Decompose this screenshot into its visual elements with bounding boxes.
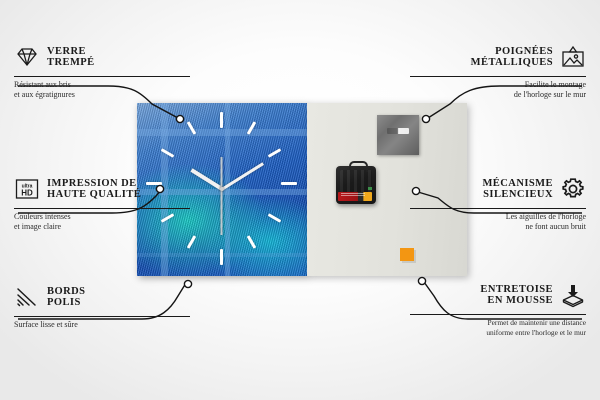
- svg-text:HD: HD: [21, 189, 33, 198]
- hanger-slot: [387, 128, 409, 134]
- foam-spacer-icon: [560, 282, 586, 308]
- feature-title: POIGNÉES MÉTALLIQUES: [471, 46, 553, 69]
- feature-subtitle: Facilite le montage de l'horloge sur le …: [410, 80, 586, 100]
- divider: [410, 208, 586, 209]
- ultra-hd-badge-icon: ultra HD: [14, 176, 40, 202]
- polished-edges-icon: [14, 284, 40, 310]
- divider: [410, 314, 586, 315]
- feature-entretoise-en-mousse: ENTRETOISE EN MOUSSE Permet de maintenir…: [410, 278, 586, 338]
- feature-title: VERRE TREMPÉ: [47, 46, 95, 69]
- feature-subtitle: Couleurs intenses et image claire: [14, 212, 190, 232]
- feature-subtitle: Permet de maintenir une distance uniform…: [410, 318, 586, 338]
- feature-title: IMPRESSION DE HAUTE QUALITÉ: [47, 178, 141, 201]
- feature-subtitle: Résistant aux bris et aux égratignures: [14, 80, 190, 100]
- divider: [14, 316, 190, 317]
- feature-bords-polis: BORDS POLIS Surface lisse et sûre: [14, 280, 190, 330]
- feature-title: MÉCANISME SILENCIEUX: [482, 178, 553, 201]
- diamond-icon: [14, 44, 40, 70]
- gear-icon: [560, 176, 586, 202]
- hour-marker: [220, 249, 223, 265]
- battery: [338, 192, 372, 201]
- feature-title: BORDS POLIS: [47, 286, 85, 309]
- metal-hanger-plate: [377, 115, 419, 155]
- foam-spacer: [400, 248, 414, 261]
- second-hand: [221, 157, 223, 235]
- infographic-canvas: VERRE TREMPÉ Résistant aux bris et aux é…: [0, 0, 600, 400]
- feature-title: ENTRETOISE EN MOUSSE: [480, 284, 553, 307]
- hour-marker: [220, 112, 223, 128]
- clock-pivot: [220, 187, 224, 191]
- clock-mechanism: [336, 166, 376, 204]
- picture-frame-hook-icon: [560, 44, 586, 70]
- feature-subtitle: Surface lisse et sûre: [14, 320, 190, 330]
- feature-verre-trempe: VERRE TREMPÉ Résistant aux bris et aux é…: [14, 40, 190, 100]
- divider: [14, 208, 190, 209]
- divider: [14, 76, 190, 77]
- hour-marker: [281, 182, 297, 185]
- feature-poignees-metalliques: POIGNÉES MÉTALLIQUES Facilite le montage…: [410, 40, 586, 100]
- battery-label: [341, 192, 365, 196]
- mechanism-indicator: [368, 187, 372, 190]
- divider: [410, 76, 586, 77]
- feature-subtitle: Les aiguilles de l'horloge ne font aucun…: [410, 212, 586, 232]
- feature-mecanisme-silencieux: MÉCANISME SILENCIEUX Les aiguilles de l'…: [410, 172, 586, 232]
- feature-impression-haute-qualite: ultra HD IMPRESSION DE HAUTE QUALITÉ Cou…: [14, 172, 190, 232]
